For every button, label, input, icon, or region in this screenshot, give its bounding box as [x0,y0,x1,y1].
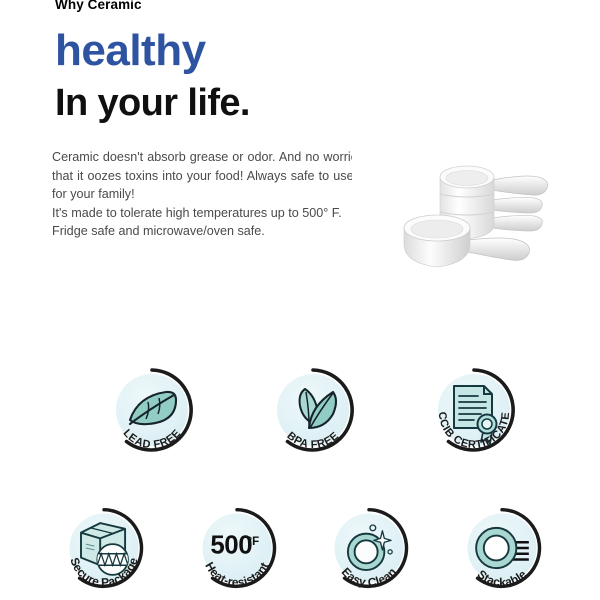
page-kicker: Why Ceramic [55,0,142,12]
temperature-text-icon: 500 °F [210,532,259,560]
temperature-value: 500 [210,532,252,560]
badge-stackable: Stackable [456,502,548,594]
badge-ccib-certificate: CCIB CERTIFICATE [426,362,522,458]
body-paragraph-2: It's made to tolerate high temperatures … [52,204,352,241]
badge-row-primary: LEAD FREE [104,362,522,458]
bowl-handle-2 [492,197,542,213]
bowl-handle-1 [492,176,548,195]
badge-lead-free: LEAD FREE [104,362,200,458]
headline-accent: healthy [55,29,206,73]
badge-row-secondary: Secure Package 500 °F [58,502,548,594]
badge-bpa-free: BPA FREE [265,362,361,458]
badge-secure-package: Secure Package [58,502,150,594]
temperature-unit: °F [247,536,259,548]
product-feature-page: Why Ceramic healthy In your life. Cerami… [0,0,600,600]
bowl-front [404,215,470,267]
body-copy-block: Ceramic doesn't absorb grease or odor. A… [52,148,352,273]
page-title: In your life. [55,84,250,122]
bowl-handle-front [468,238,530,260]
badge-easy-clean: Easy Clean [323,502,415,594]
body-paragraph-1: Ceramic doesn't absorb grease or odor. A… [52,148,352,204]
product-photo [392,132,588,272]
badge-heat-resistant: 500 °F Heat-resistant [191,502,283,594]
bowl-handle-3 [492,215,542,231]
